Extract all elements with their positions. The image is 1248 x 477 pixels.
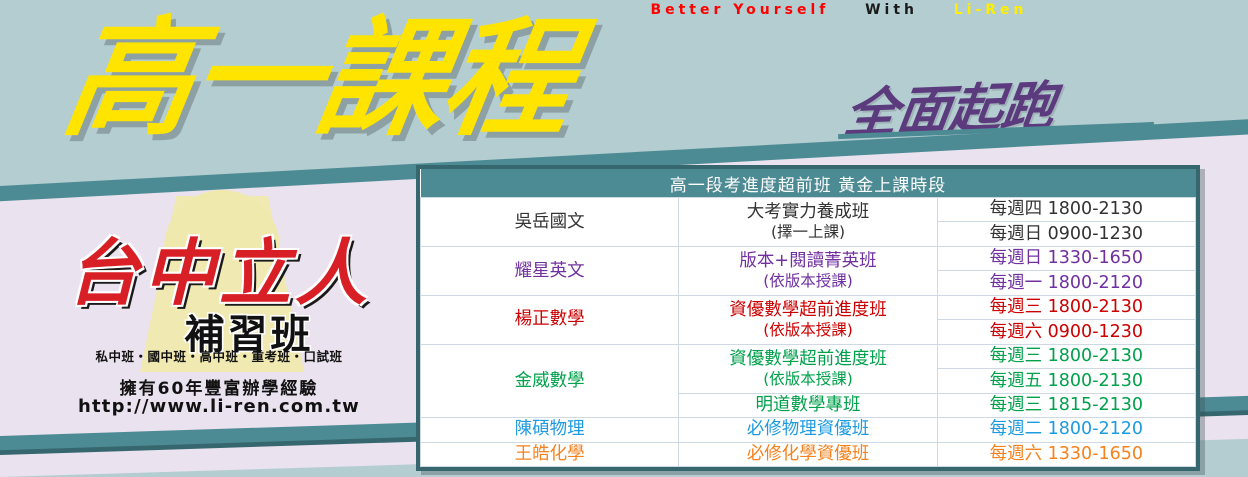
cell-time: 每週四 1800-2130 xyxy=(937,198,1195,222)
table-row: 陳碩物理必修物理資優班每週二 1800-2120 xyxy=(421,418,1196,442)
cell-course: 資優數學超前進度班(依版本授課) xyxy=(679,344,937,393)
cell-teacher: 王皓化學 xyxy=(421,442,679,466)
course-note: (依版本授課) xyxy=(683,272,932,290)
cell-time: 每週六 0900-1230 xyxy=(937,320,1195,344)
course-name: 資優數學超前進度班 xyxy=(729,300,887,320)
table-row: 王皓化學必修化學資優班每週六 1330-1650 xyxy=(421,442,1196,466)
course-name: 資優數學超前進度班 xyxy=(729,349,887,369)
course-name: 版本+閱讀菁英班 xyxy=(739,251,876,271)
tagline-part-1: Better Yourself xyxy=(650,2,829,18)
course-name: 大考實力養成班 xyxy=(747,202,870,222)
tagline-part-2: With xyxy=(865,2,918,18)
logo-class-types: 私中班・國中班・高中班・重考班・口試班 xyxy=(44,346,394,365)
cell-teacher: 耀星英文 xyxy=(421,246,679,295)
cell-course: 大考實力養成班(擇一上課) xyxy=(679,198,937,247)
cell-teacher: 吳岳國文 xyxy=(421,198,679,247)
cell-time: 每週三 1800-2130 xyxy=(937,344,1195,368)
table-row: 耀星英文版本+閱讀菁英班(依版本授課)每週日 1330-1650 xyxy=(421,246,1196,270)
cell-time: 每週六 1330-1650 xyxy=(937,442,1195,466)
table-header-row: 高一段考進度超前班 黃金上課時段 xyxy=(421,169,1196,198)
schedule-table: 高一段考進度超前班 黃金上課時段 吳岳國文大考實力養成班(擇一上課)每週四 18… xyxy=(420,169,1196,467)
poster-canvas: Better Yourself With Li-Ren 高一課程 全面起跑 台中… xyxy=(0,0,1248,477)
cell-time: 每週五 1800-2130 xyxy=(937,369,1195,393)
course-note: (依版本授課) xyxy=(683,370,932,388)
course-note: (擇一上課) xyxy=(683,223,932,241)
cell-course: 明道數學專班 xyxy=(679,393,937,417)
tagline-part-3: Li-Ren xyxy=(954,2,1028,18)
cell-teacher: 陳碩物理 xyxy=(421,418,679,442)
course-name: 必修化學資優班 xyxy=(747,444,870,464)
logo-website-url: http://www.li-ren.com.tw xyxy=(44,396,394,417)
schedule-table-head: 高一段考進度超前班 黃金上課時段 xyxy=(421,169,1196,198)
table-row: 金威數學資優數學超前進度班(依版本授課)每週三 1800-2130 xyxy=(421,344,1196,368)
schedule-table-title: 高一段考進度超前班 黃金上課時段 xyxy=(421,169,1196,198)
course-note: (依版本授課) xyxy=(683,321,932,339)
table-row: 吳岳國文大考實力養成班(擇一上課)每週四 1800-2130 xyxy=(421,198,1196,222)
cell-time: 每週日 1330-1650 xyxy=(937,246,1195,270)
cell-teacher: 金威數學 xyxy=(421,344,679,417)
cell-course: 版本+閱讀菁英班(依版本授課) xyxy=(679,246,937,295)
course-name: 明道數學專班 xyxy=(755,395,860,415)
cell-course: 必修化學資優班 xyxy=(679,442,937,466)
cell-time: 每週一 1800-2120 xyxy=(937,271,1195,295)
schedule-table-container: 高一段考進度超前班 黃金上課時段 吳岳國文大考實力養成班(擇一上課)每週四 18… xyxy=(416,165,1200,471)
cell-course: 資優數學超前進度班(依版本授課) xyxy=(679,295,937,344)
schedule-table-body: 吳岳國文大考實力養成班(擇一上課)每週四 1800-2130每週日 0900-1… xyxy=(421,198,1196,467)
cell-teacher: 楊正數學 xyxy=(421,295,679,344)
poster-headline: 高一課程 xyxy=(55,12,581,148)
cell-course: 必修物理資優班 xyxy=(679,418,937,442)
cell-time: 每週三 1800-2130 xyxy=(937,295,1195,319)
cell-time: 每週二 1800-2120 xyxy=(937,418,1195,442)
cell-time: 每週日 0900-1230 xyxy=(937,222,1195,246)
school-logo: 台中立人 補習班 私中班・國中班・高中班・重考班・口試班 擁有60年豐富辦學經驗… xyxy=(44,196,394,428)
table-row: 楊正數學資優數學超前進度班(依版本授課)每週三 1800-2130 xyxy=(421,295,1196,319)
course-name: 必修物理資優班 xyxy=(747,419,870,439)
cell-time: 每週三 1815-2130 xyxy=(937,393,1195,417)
